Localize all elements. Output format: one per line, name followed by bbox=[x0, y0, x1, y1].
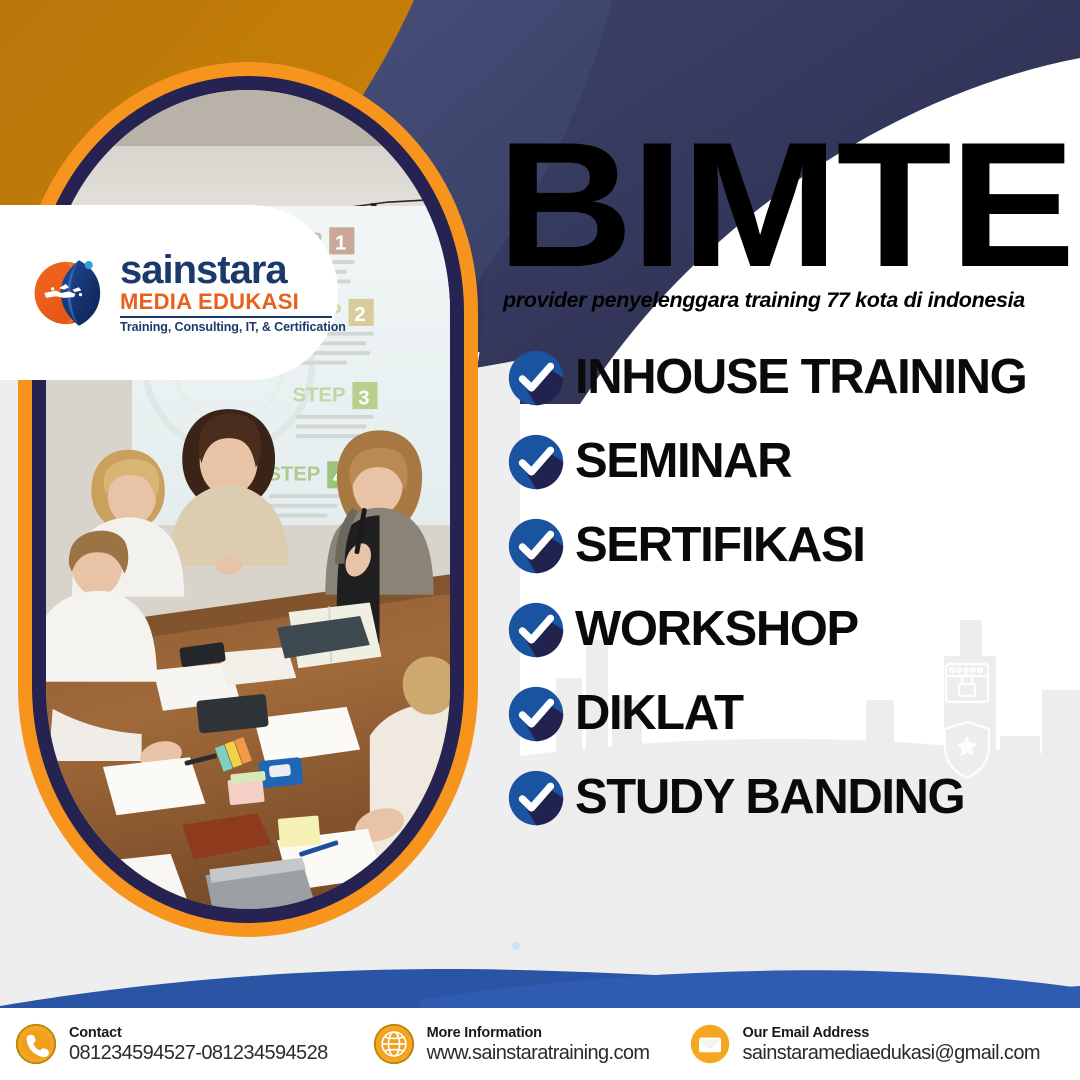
envelope-icon bbox=[688, 1022, 732, 1066]
page-title: BIMTEK bbox=[497, 132, 1080, 278]
list-item: DIKLAT bbox=[507, 683, 1067, 745]
list-item-label: SEMINAR bbox=[575, 437, 791, 486]
footer-contact-label: Contact bbox=[69, 1025, 122, 1041]
footer-contact: Contact 081234594527-081234594528 bbox=[14, 1022, 328, 1066]
list-item: SEMINAR bbox=[507, 431, 1067, 493]
brand-logo-card: sainstara MEDIA EDUKASI Training, Consul… bbox=[0, 205, 338, 380]
svg-text:STEP: STEP bbox=[267, 464, 320, 486]
footer-website: More Information www.sainstaratraining.c… bbox=[372, 1022, 650, 1066]
list-item-label: STUDY BANDING bbox=[575, 773, 964, 822]
brand-tagline: Training, Consulting, IT, & Certificatio… bbox=[120, 320, 346, 334]
photo-frame-inner: STEP 1 STEP 2 STEP 3 STEP 4 bbox=[32, 76, 464, 923]
list-item-label: WORKSHOP bbox=[575, 605, 858, 654]
footer-website-label: More Information bbox=[427, 1025, 542, 1041]
globe-icon bbox=[372, 1022, 416, 1066]
check-circle-icon bbox=[507, 517, 565, 575]
svg-text:3: 3 bbox=[358, 387, 369, 409]
check-circle-icon bbox=[507, 433, 565, 491]
footer-website-value[interactable]: www.sainstaratraining.com bbox=[427, 1042, 650, 1064]
check-circle-icon bbox=[507, 601, 565, 659]
list-item: STUDY BANDING bbox=[507, 767, 1067, 829]
service-list: INHOUSE TRAINING SEMINAR bbox=[507, 347, 1067, 829]
footer-website-text: More Information www.sainstaratraining.c… bbox=[427, 1024, 650, 1065]
footer-contact-value: 081234594527-081234594528 bbox=[69, 1042, 328, 1064]
list-item: WORKSHOP bbox=[507, 599, 1067, 661]
brand-name: sainstara bbox=[120, 251, 346, 289]
brand-subname: MEDIA EDUKASI bbox=[120, 290, 346, 314]
svg-text:2: 2 bbox=[354, 304, 365, 326]
contact-footer: Contact 081234594527-081234594528 bbox=[0, 1008, 1080, 1080]
list-item-label: INHOUSE TRAINING bbox=[575, 353, 1026, 402]
check-circle-icon bbox=[507, 769, 565, 827]
svg-text:STEP: STEP bbox=[292, 384, 345, 406]
footer-email-value[interactable]: sainstaramediaedukasi@gmail.com bbox=[743, 1042, 1040, 1064]
list-item-label: SERTIFIKASI bbox=[575, 521, 865, 570]
photo-frame-outer: STEP 1 STEP 2 STEP 3 STEP 4 bbox=[18, 62, 478, 937]
footer-email-text: Our Email Address sainstaramediaedukasi@… bbox=[743, 1024, 1040, 1065]
check-circle-icon bbox=[507, 685, 565, 743]
list-item: INHOUSE TRAINING bbox=[507, 347, 1067, 409]
footer-email: Our Email Address sainstaramediaedukasi@… bbox=[688, 1022, 1040, 1066]
list-item-label: DIKLAT bbox=[575, 689, 743, 738]
footer-email-label: Our Email Address bbox=[743, 1025, 870, 1041]
brand-divider bbox=[120, 316, 332, 318]
check-circle-icon bbox=[507, 349, 565, 407]
flame-indonesia-logo-icon bbox=[28, 252, 110, 334]
footer-contact-text: Contact 081234594527-081234594528 bbox=[69, 1024, 328, 1065]
list-item: SERTIFIKASI bbox=[507, 515, 1067, 577]
brand-logo-text: sainstara MEDIA EDUKASI Training, Consul… bbox=[120, 251, 346, 334]
poster-canvas: STEP 1 STEP 2 STEP 3 STEP 4 bbox=[0, 0, 1080, 1080]
phone-icon bbox=[14, 1022, 58, 1066]
content-column: BIMTEK provider penyelenggara training 7… bbox=[497, 132, 1067, 851]
